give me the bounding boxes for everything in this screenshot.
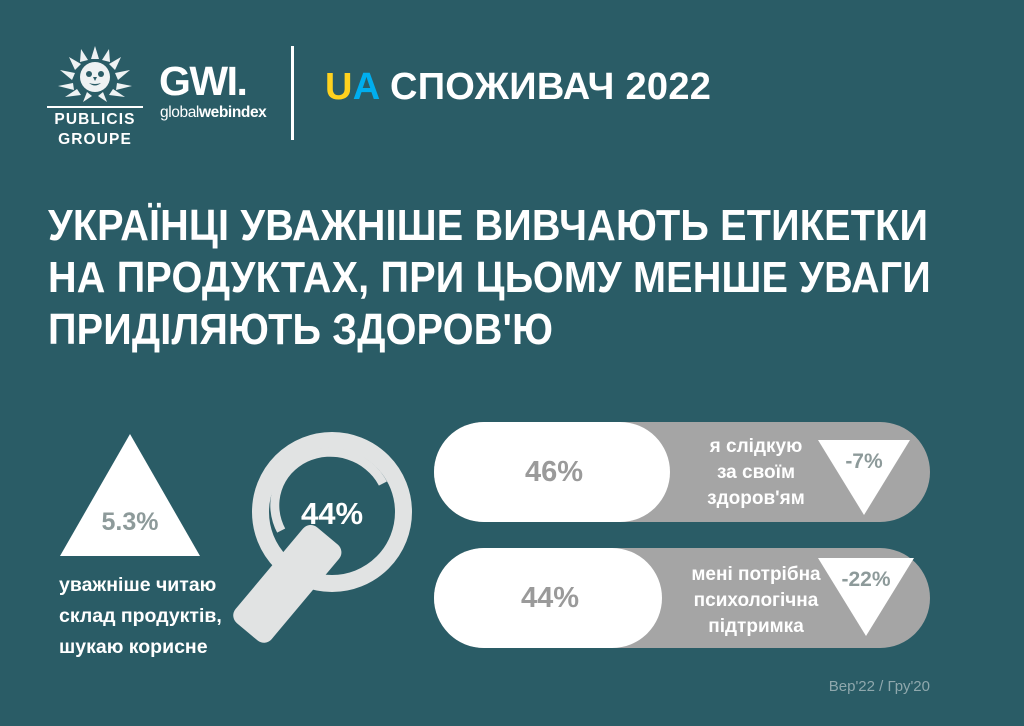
publicis-wordmark-line1: PUBLICIS bbox=[47, 111, 143, 129]
pill-delta-value: -7% bbox=[818, 450, 910, 474]
pill-label-line-3: здоров'ям bbox=[662, 486, 850, 512]
header: PUBLICIS GROUPE GWI. globalwebindex UA С… bbox=[0, 0, 1024, 160]
publicis-sun-lion-icon bbox=[55, 46, 135, 104]
page-title: UA СПОЖИВАЧ 2022 bbox=[325, 66, 711, 109]
stat-pill-row: 44% мені потрібна психологічна підтримка… bbox=[434, 548, 930, 648]
stat-magnifier-group: 44% bbox=[222, 418, 442, 668]
stat-pill-row: 46% я слідкую за своїм здоров'ям -7% bbox=[434, 422, 930, 522]
publicis-wordmark-line2: GROUPE bbox=[47, 131, 143, 149]
gwi-tagline-index: index bbox=[228, 104, 266, 121]
triangle-stat-value: 5.3% bbox=[60, 508, 200, 537]
header-vertical-divider bbox=[291, 46, 294, 140]
publicis-divider bbox=[47, 106, 143, 108]
headline-line-3: ПРИДІЛЯЮТЬ ЗДОРОВ'Ю bbox=[48, 304, 867, 356]
headline-line-2: НА ПРОДУКТАХ, ПРИ ЦЬОМУ МЕНШЕ УВАГИ bbox=[48, 252, 867, 304]
gwi-wordmark: GWI. bbox=[159, 60, 246, 102]
magnifier-stat-value: 44% bbox=[252, 496, 412, 532]
title-rest: СПОЖИВАЧ 2022 bbox=[379, 66, 711, 108]
headline-line-1: УКРАЇНЦІ УВАЖНІШЕ ВИВЧАЮТЬ ЕТИКЕТКИ bbox=[48, 200, 867, 252]
pill-value: 46% bbox=[504, 456, 604, 489]
gwi-tagline: globalwebindex bbox=[160, 104, 266, 122]
pill-value: 44% bbox=[500, 582, 600, 615]
pill-delta-value: -22% bbox=[818, 568, 914, 592]
title-ua-a: A bbox=[353, 66, 379, 108]
headline: УКРАЇНЦІ УВАЖНІШЕ ВИВЧАЮТЬ ЕТИКЕТКИ НА П… bbox=[48, 200, 867, 356]
gwi-tagline-web: web bbox=[199, 104, 228, 121]
pill-label-line-3: підтримка bbox=[656, 614, 856, 640]
triangle-up-icon bbox=[60, 434, 200, 556]
infographic-canvas: PUBLICIS GROUPE GWI. globalwebindex UA С… bbox=[0, 0, 1024, 726]
gwi-tagline-global: global bbox=[160, 104, 199, 121]
footer-period-note: Вер'22 / Гру'20 bbox=[740, 678, 930, 695]
gwi-logo: GWI. globalwebindex bbox=[159, 60, 269, 130]
publicis-groupe-logo: PUBLICIS GROUPE bbox=[47, 46, 143, 140]
title-ua-u: U bbox=[325, 66, 353, 108]
